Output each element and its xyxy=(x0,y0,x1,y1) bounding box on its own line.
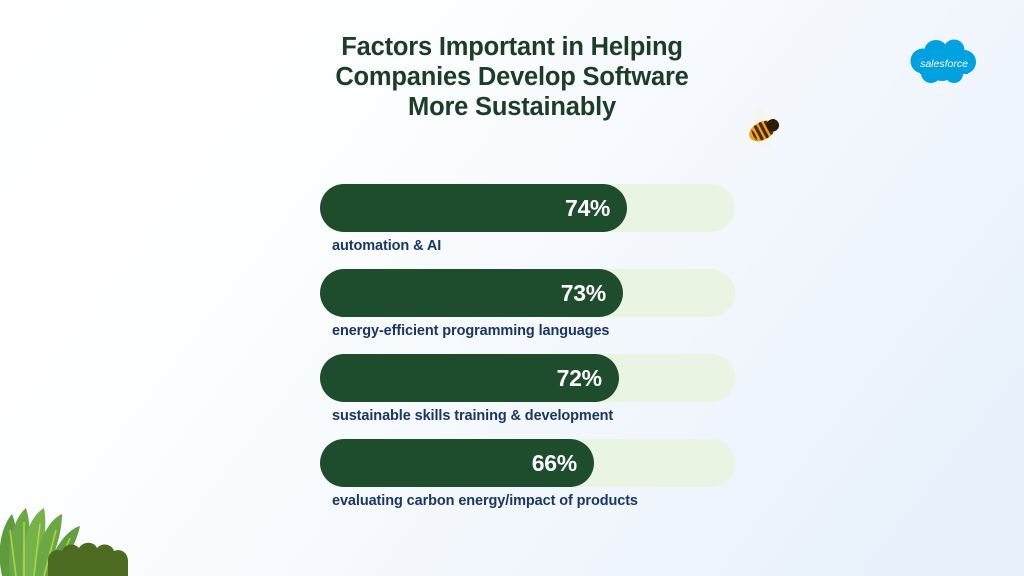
bush xyxy=(48,543,128,576)
bar-fill: 73% xyxy=(320,269,623,317)
page-title: Factors Important in Helping Companies D… xyxy=(262,32,762,122)
bar-fill: 74% xyxy=(320,184,627,232)
palm-frond xyxy=(0,508,80,576)
salesforce-logo: salesforce xyxy=(906,36,982,88)
bar-value: 72% xyxy=(557,367,602,390)
title-line-2: Companies Develop Software xyxy=(262,62,762,92)
bar-label: sustainable skills training & developmen… xyxy=(332,408,613,424)
bar-track: 72% xyxy=(320,354,735,402)
bar-value: 74% xyxy=(565,197,610,220)
salesforce-wordmark: salesforce xyxy=(920,58,968,70)
bar-track: 74% xyxy=(320,184,735,232)
chart-row: 74% automation & AI xyxy=(320,184,736,269)
chart-row: 66% evaluating carbon energy/impact of p… xyxy=(320,439,736,524)
bar-track: 66% xyxy=(320,439,735,487)
bar-value: 73% xyxy=(561,282,606,305)
bee-icon xyxy=(738,104,790,156)
bar-value: 66% xyxy=(532,452,577,475)
bar-label: energy-efficient programming languages xyxy=(332,323,609,339)
slide-canvas: Factors Important in Helping Companies D… xyxy=(0,0,1024,576)
bar-label: evaluating carbon energy/impact of produ… xyxy=(332,493,638,509)
bar-chart: 74% automation & AI 73% energy-efficient… xyxy=(320,184,736,524)
bar-label: automation & AI xyxy=(332,238,441,254)
foliage-icon xyxy=(0,456,190,576)
chart-row: 73% energy-efficient programming languag… xyxy=(320,269,736,354)
title-line-1: Factors Important in Helping xyxy=(262,32,762,62)
chart-row: 72% sustainable skills training & develo… xyxy=(320,354,736,439)
bar-fill: 72% xyxy=(320,354,619,402)
title-line-3: More Sustainably xyxy=(262,92,762,122)
bar-fill: 66% xyxy=(320,439,594,487)
bar-track: 73% xyxy=(320,269,735,317)
